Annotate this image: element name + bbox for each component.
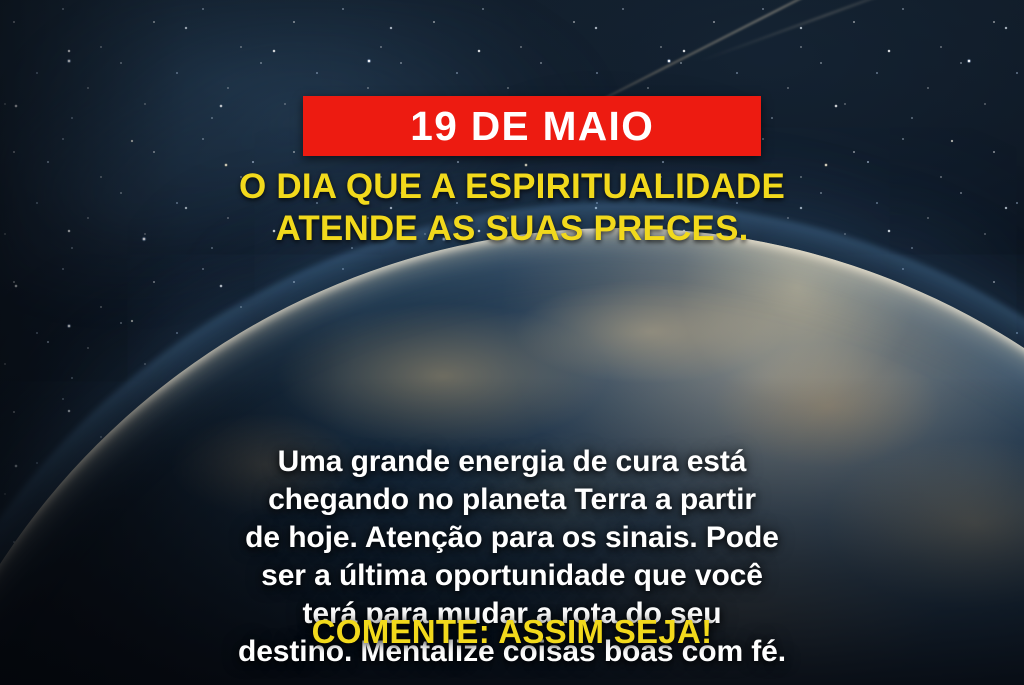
body-copy-line-1: Uma grande energia de cura está [0,443,1024,481]
body-copy-line-3: de hoje. Atenção para os sinais. Pode [0,519,1024,557]
body-copy-line-4: ser a última oportunidade que você [0,557,1024,595]
headline: O DIA QUE A ESPIRITUALIDADE ATENDE AS SU… [0,166,1024,249]
date-banner: 19 DE MAIO [303,96,761,156]
poster-content: 19 DE MAIO O DIA QUE A ESPIRITUALIDADE A… [0,0,1024,685]
body-copy-line-2: chegando no planeta Terra a partir [0,481,1024,519]
call-to-action-label: COMENTE: ASSIM SEJA! [312,613,713,650]
headline-line-1: O DIA QUE A ESPIRITUALIDADE [0,166,1024,208]
date-banner-label: 19 DE MAIO [410,106,654,147]
headline-line-2: ATENDE AS SUAS PRECES. [0,208,1024,250]
call-to-action: COMENTE: ASSIM SEJA! [0,613,1024,651]
poster-canvas: 19 DE MAIO O DIA QUE A ESPIRITUALIDADE A… [0,0,1024,685]
